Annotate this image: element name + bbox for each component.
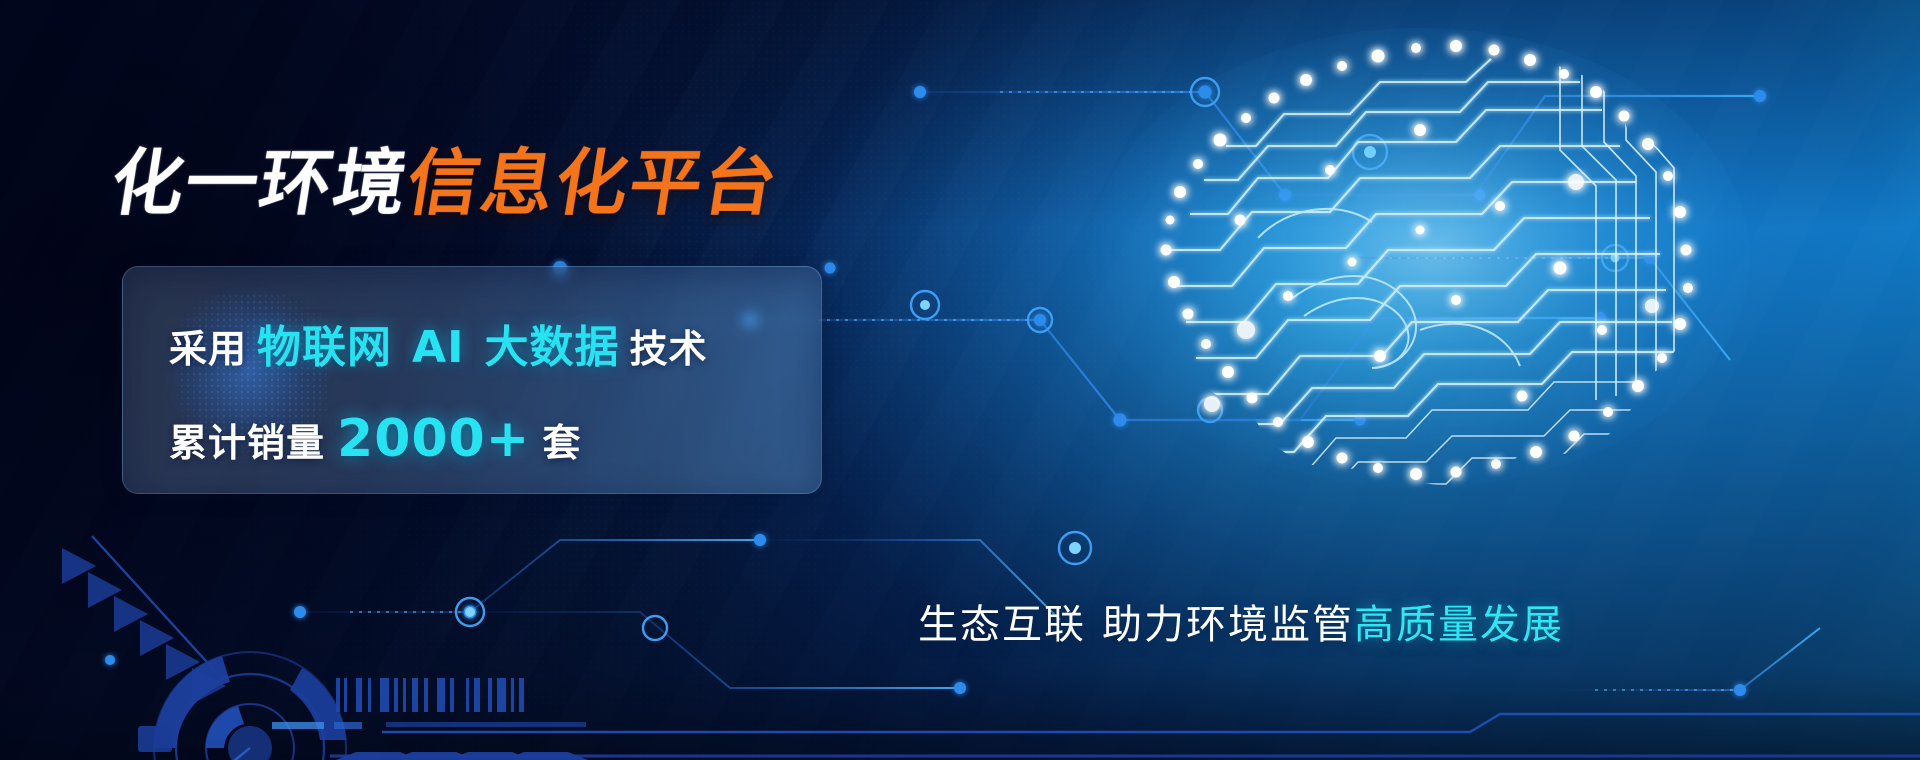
feature-suffix: 技术 bbox=[629, 318, 707, 373]
feature-iot-label: 物联网 bbox=[257, 311, 392, 375]
feature-row-sales: 累计销量 2000+ 套 bbox=[169, 409, 821, 469]
tagline: 生态互联 助力环境监管 高质量发展 bbox=[918, 592, 1564, 650]
sales-prefix: 累计销量 bbox=[169, 412, 325, 467]
sales-count: 2000+ bbox=[337, 409, 530, 469]
feature-prefix: 采用 bbox=[169, 318, 247, 373]
tagline-part-a: 生态互联 bbox=[918, 592, 1086, 650]
tagline-part-c: 高质量发展 bbox=[1354, 592, 1564, 650]
feature-ai-label: AI bbox=[412, 322, 464, 373]
circuit-brain-icon bbox=[860, 0, 1920, 560]
barcode-strip-icon bbox=[336, 678, 524, 712]
feature-bigdata-label: 大数据 bbox=[484, 311, 619, 375]
title-white-part: 化一环境 bbox=[105, 141, 414, 225]
sales-unit: 套 bbox=[542, 412, 581, 467]
feature-row-technology: 采用 物联网 AI 大数据 技术 bbox=[169, 311, 821, 375]
hero-banner: 化一环境信息化平台 采用 物联网 AI 大数据 技术 累计销量 2000+ 套 … bbox=[0, 0, 1920, 760]
page-title: 化一环境信息化平台 bbox=[112, 140, 778, 226]
feature-glass-panel: 采用 物联网 AI 大数据 技术 累计销量 2000+ 套 bbox=[122, 266, 822, 494]
title-orange-part: 信息化平台 bbox=[401, 141, 784, 225]
tagline-part-b: 助力环境监管 bbox=[1102, 592, 1354, 650]
